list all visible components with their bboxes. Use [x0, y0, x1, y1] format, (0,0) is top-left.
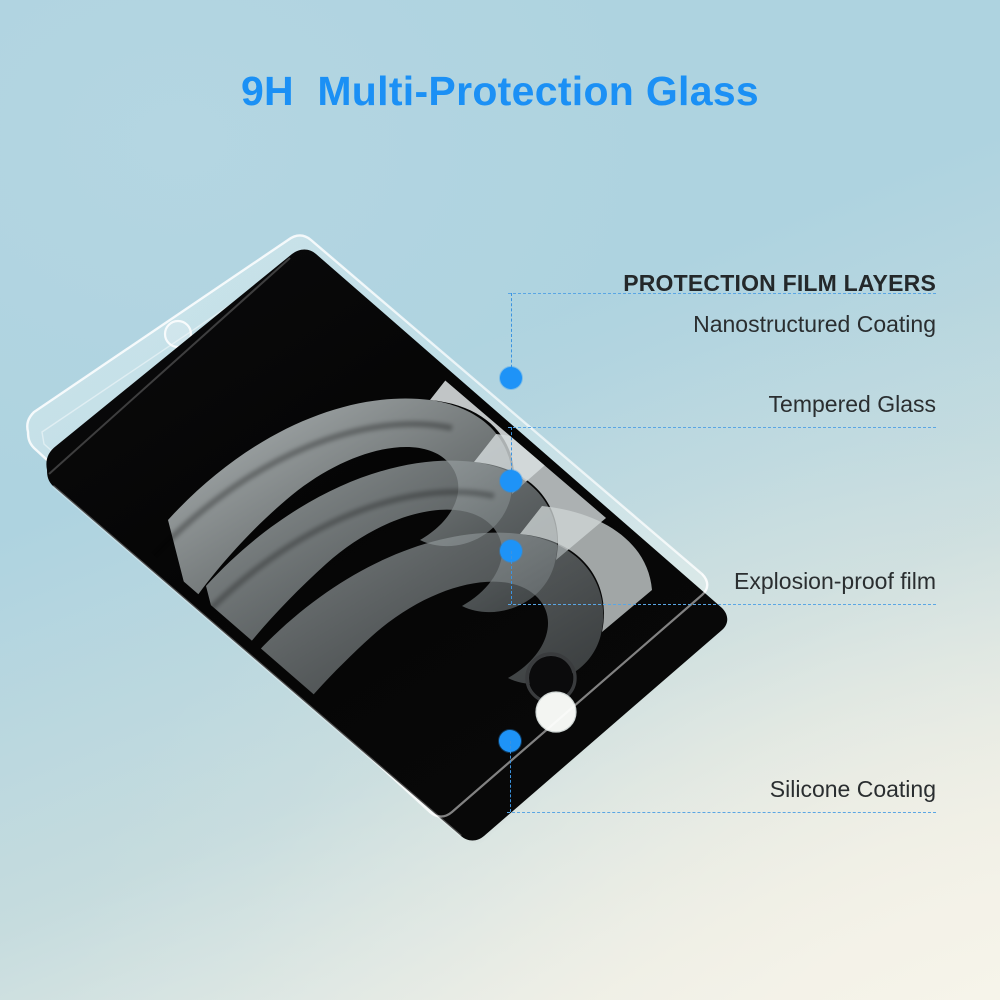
- callout-label-1: Nanostructured Coating: [693, 311, 936, 338]
- callout-leader-vertical-3: [511, 551, 512, 604]
- callout-label-3: Explosion-proof film: [734, 568, 936, 595]
- callout-leader-vertical-1: [511, 293, 512, 378]
- callout-rule-3: [508, 604, 936, 605]
- callout-rule-1: [508, 293, 936, 294]
- callout-dot-2[interactable]: [500, 470, 522, 492]
- callout-layer: PROTECTION FILM LAYERS Nanostructured Co…: [0, 0, 1000, 1000]
- callout-label-4: Silicone Coating: [770, 776, 936, 803]
- callout-rule-2: [508, 427, 936, 428]
- callout-rule-4: [507, 812, 936, 813]
- callout-dot-1[interactable]: [500, 367, 522, 389]
- callout-label-2: Tempered Glass: [769, 391, 936, 418]
- callout-leader-vertical-4: [510, 741, 511, 812]
- product-infographic: 9H Multi-Protection Glass: [0, 0, 1000, 1000]
